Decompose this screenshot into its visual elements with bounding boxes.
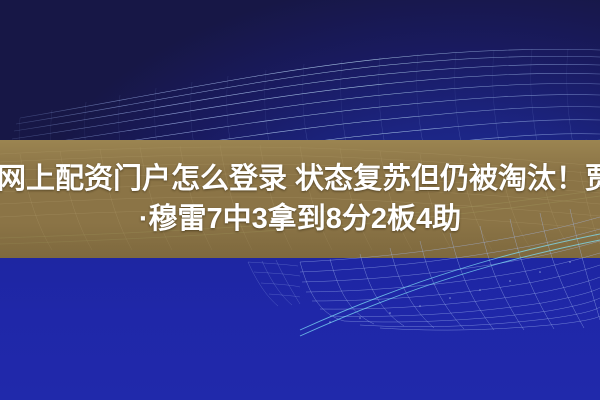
headline-text: 网上配资门户怎么登录 状态复苏但仍被淘汰！贾马尔 ·穆雷7中3拿到8分2板4助 bbox=[0, 140, 600, 258]
banner-image: 网上配资门户怎么登录 状态复苏但仍被淘汰！贾马尔 ·穆雷7中3拿到8分2板4助 bbox=[0, 0, 600, 400]
headline-line-1: 网上配资门户怎么登录 状态复苏但仍被淘汰！贾马尔 bbox=[0, 159, 600, 199]
headline-line-2: ·穆雷7中3拿到8分2板4助 bbox=[0, 199, 600, 239]
